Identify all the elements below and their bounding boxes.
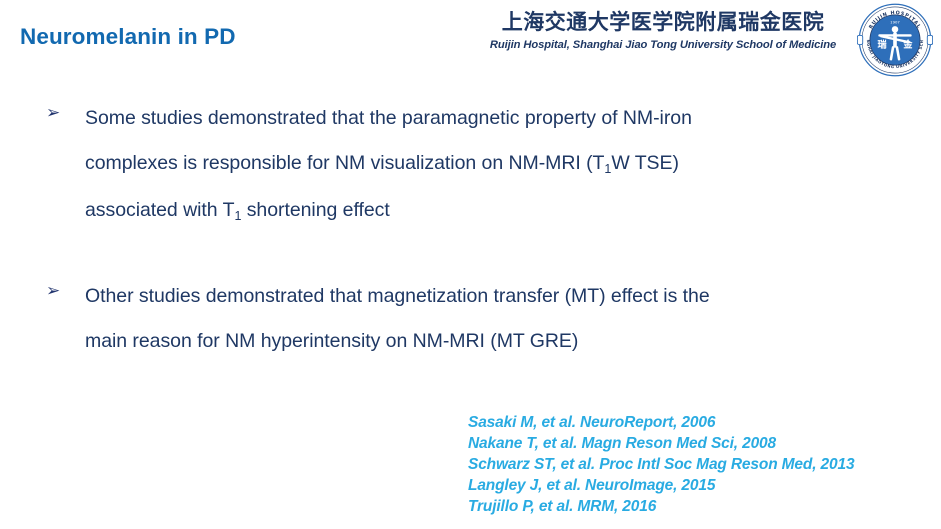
bullet-text-1: Some studies demonstrated that the param… — [85, 96, 915, 235]
organization-name-english: Ruijin Hospital, Shanghai Jiao Tong Univ… — [483, 39, 843, 51]
bullet-line-text: complexes is responsible for NM visualiz… — [85, 152, 604, 174]
reference-item: Nakane T, et al. Magn Reson Med Sci, 200… — [468, 433, 854, 454]
subscript: 1 — [604, 162, 611, 176]
bullet-line: main reason for NM hyperintensity on NM-… — [85, 319, 915, 364]
svg-text:瑞: 瑞 — [878, 39, 887, 51]
bullet-item-2: ➢ Other studies demonstrated that magnet… — [0, 274, 941, 364]
bullet-item-1: ➢ Some studies demonstrated that the par… — [0, 96, 941, 235]
organization-name-chinese: 上海交通大学医学院附属瑞金医院 — [483, 8, 843, 36]
bullet-line-text-tail: shortening effect — [241, 199, 389, 221]
reference-list: Sasaki M, et al. NeuroReport, 2006 Nakan… — [468, 412, 854, 517]
slide-content: ➢ Some studies demonstrated that the par… — [0, 96, 941, 364]
bullet-line-text-tail: W TSE) — [611, 152, 679, 174]
slide-header: Neuromelanin in PD 上海交通大学医学院附属瑞金医院 Ruiji… — [0, 0, 941, 80]
reference-item: Langley J, et al. NeuroImage, 2015 — [468, 475, 854, 496]
bullet-arrow-icon: ➢ — [46, 105, 70, 122]
bullet-line: Some studies demonstrated that the param… — [85, 96, 915, 141]
bullet-text-2: Other studies demonstrated that magnetiz… — [85, 274, 915, 364]
bullet-line: complexes is responsible for NM visualiz… — [85, 141, 915, 188]
bullet-line: associated with T1 shortening effect — [85, 188, 915, 235]
reference-item: Sasaki M, et al. NeuroReport, 2006 — [468, 412, 854, 433]
subscript: 1 — [234, 209, 241, 223]
svg-text:1907: 1907 — [890, 19, 900, 24]
hospital-logo-icon: RUIJIN HOSPITAL SHANGHAI JIAOTONG UNIVER… — [857, 2, 933, 78]
bullet-line-text: Some studies demonstrated that the param… — [85, 107, 692, 129]
organization-block: 上海交通大学医学院附属瑞金医院 Ruijin Hospital, Shangha… — [483, 8, 843, 51]
svg-text:金: 金 — [902, 39, 913, 51]
bullet-line-text: Other studies demonstrated that magnetiz… — [85, 285, 710, 307]
page-title: Neuromelanin in PD — [20, 24, 236, 50]
bullet-arrow-icon: ➢ — [46, 283, 70, 300]
bullet-line-text: main reason for NM hyperintensity on NM-… — [85, 330, 578, 352]
reference-item: Schwarz ST, et al. Proc Intl Soc Mag Res… — [468, 454, 854, 475]
reference-item: Trujillo P, et al. MRM, 2016 — [468, 496, 854, 517]
bullet-line-text: associated with T — [85, 199, 234, 221]
bullet-line: Other studies demonstrated that magnetiz… — [85, 274, 915, 319]
